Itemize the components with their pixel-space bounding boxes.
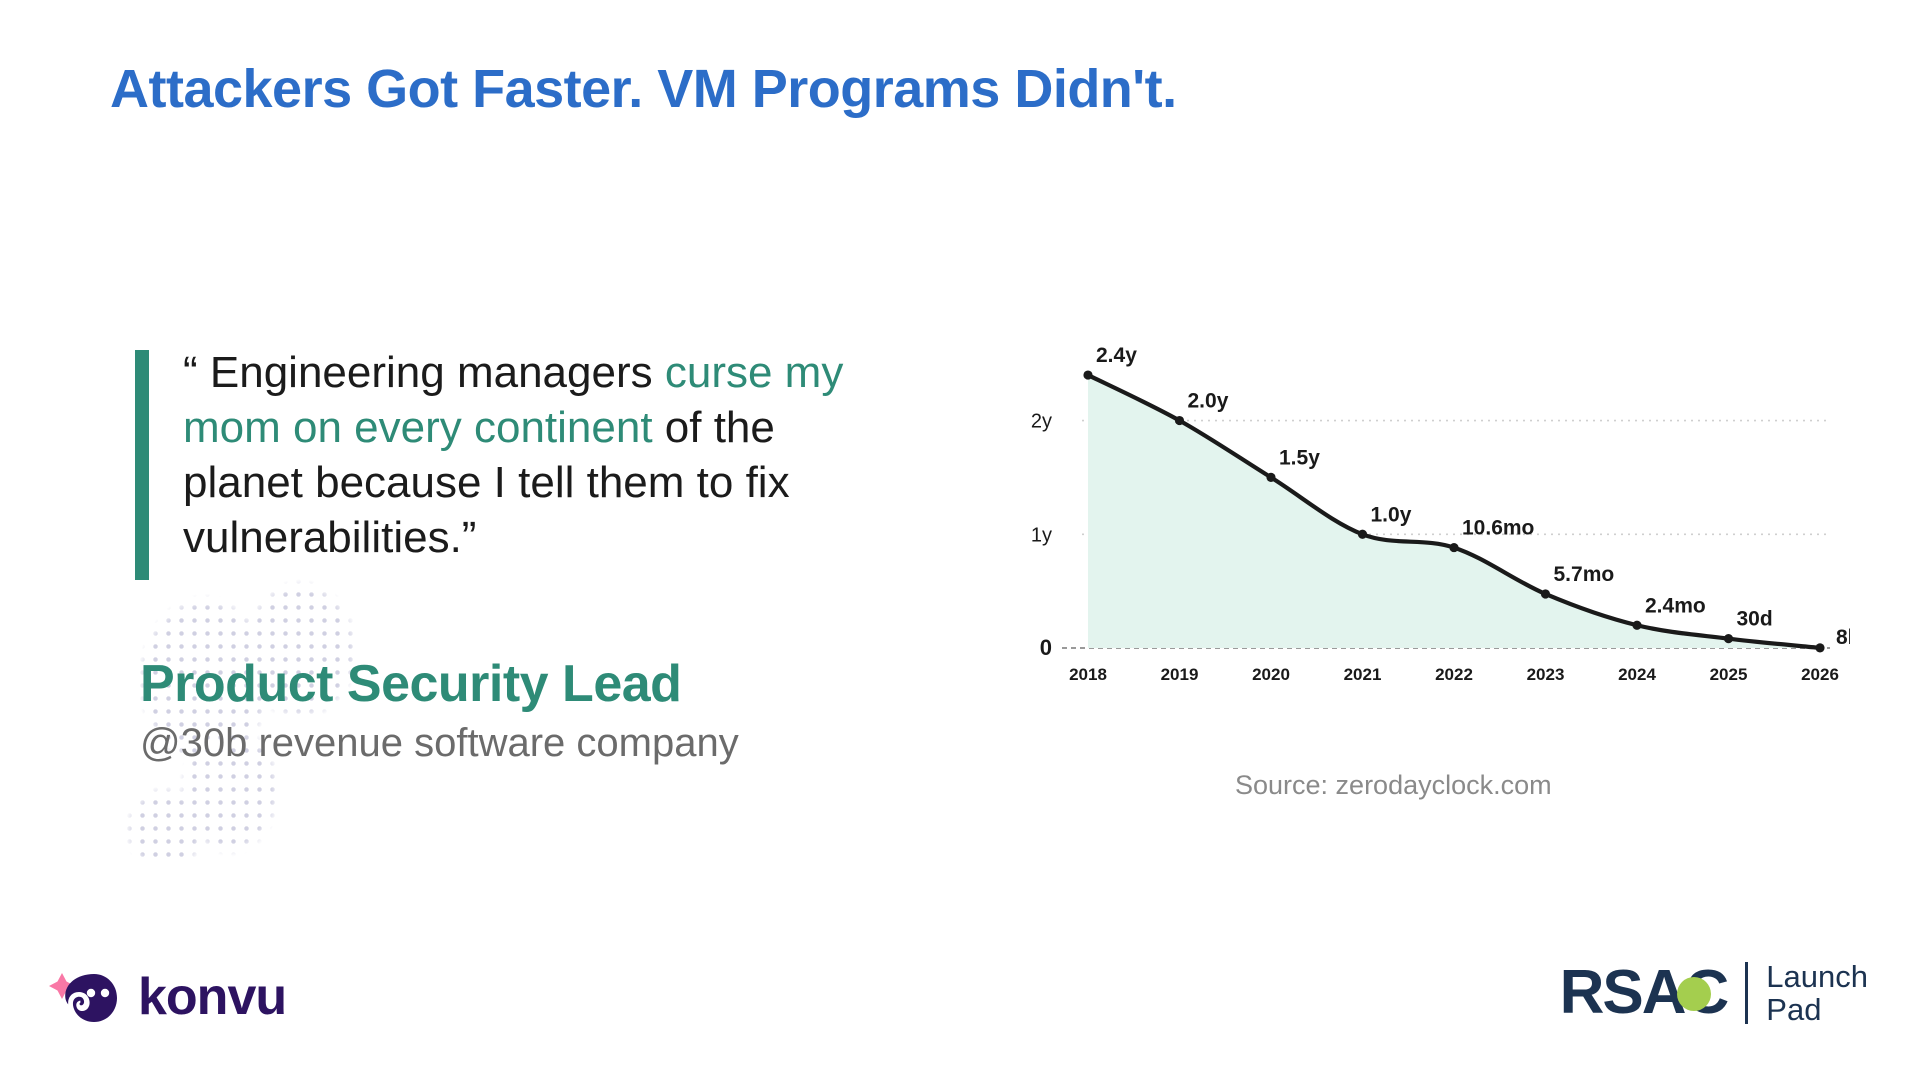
page-title: Attackers Got Faster. VM Programs Didn't… — [110, 58, 1177, 120]
chart-area-fill — [1088, 375, 1820, 648]
svg-text:1y: 1y — [1031, 524, 1052, 546]
chart-x-axis-labels: 201820192020202120222023202420252026 — [1069, 665, 1839, 684]
svg-text:2019: 2019 — [1161, 665, 1199, 684]
chart-y-axis-labels: 2y1y0 — [1031, 411, 1052, 660]
attribution: Product Security Lead @30b revenue softw… — [140, 655, 739, 769]
rsac-wordmark: RSAC — [1560, 962, 1728, 1024]
svg-text:1.0y: 1.0y — [1371, 503, 1412, 526]
svg-text:2018: 2018 — [1069, 665, 1107, 684]
rsac-green-dot-icon — [1676, 976, 1712, 1012]
quote-segment-1: Engineering managers — [198, 348, 665, 397]
chart-source-caption: Source: zerodayclock.com — [1235, 770, 1552, 801]
svg-text:2022: 2022 — [1435, 665, 1473, 684]
rsac-divider — [1745, 962, 1748, 1024]
svg-text:2.0y: 2.0y — [1188, 390, 1229, 413]
quote-open-mark: “ — [183, 348, 198, 397]
svg-text:2020: 2020 — [1252, 665, 1290, 684]
svg-text:30d: 30d — [1737, 608, 1773, 631]
svg-text:0: 0 — [1040, 635, 1052, 660]
svg-text:2025: 2025 — [1710, 665, 1748, 684]
svg-text:2023: 2023 — [1527, 665, 1565, 684]
remediation-time-area-chart: 2.4y2.0y1.5y1.0y10.6mo5.7mo2.4mo30d8h 2y… — [1000, 330, 1850, 750]
konvu-ghost-icon — [48, 965, 124, 1029]
svg-text:2y: 2y — [1031, 411, 1052, 433]
chart-figure: 2.4y2.0y1.5y1.0y10.6mo5.7mo2.4mo30d8h 2y… — [1000, 330, 1850, 750]
svg-text:2021: 2021 — [1344, 665, 1382, 684]
svg-text:8h: 8h — [1836, 626, 1850, 649]
rsac-launchpad-logo[interactable]: RSAC Launch Pad — [1560, 960, 1868, 1027]
svg-text:1.5y: 1.5y — [1279, 446, 1320, 469]
konvu-wordmark: konvu — [138, 971, 286, 1023]
quote-block: “ Engineering managers curse my mom on e… — [135, 345, 895, 565]
svg-text:2024: 2024 — [1618, 665, 1656, 684]
rsac-pad-line: Pad — [1766, 993, 1868, 1026]
attribution-role: Product Security Lead — [140, 655, 739, 715]
rsac-launch-line: Launch — [1766, 960, 1868, 993]
attribution-company: @30b revenue software company — [140, 717, 739, 769]
svg-text:2.4y: 2.4y — [1096, 344, 1137, 367]
konvu-logo[interactable]: konvu — [48, 965, 286, 1029]
svg-text:2.4mo: 2.4mo — [1645, 594, 1706, 617]
quote-text: “ Engineering managers curse my mom on e… — [183, 345, 895, 565]
rsac-launchpad-text: Launch Pad — [1766, 960, 1868, 1027]
svg-text:5.7mo: 5.7mo — [1554, 563, 1615, 586]
quote-accent-bar — [135, 350, 149, 580]
svg-text:10.6mo: 10.6mo — [1462, 517, 1534, 540]
svg-text:2026: 2026 — [1801, 665, 1839, 684]
